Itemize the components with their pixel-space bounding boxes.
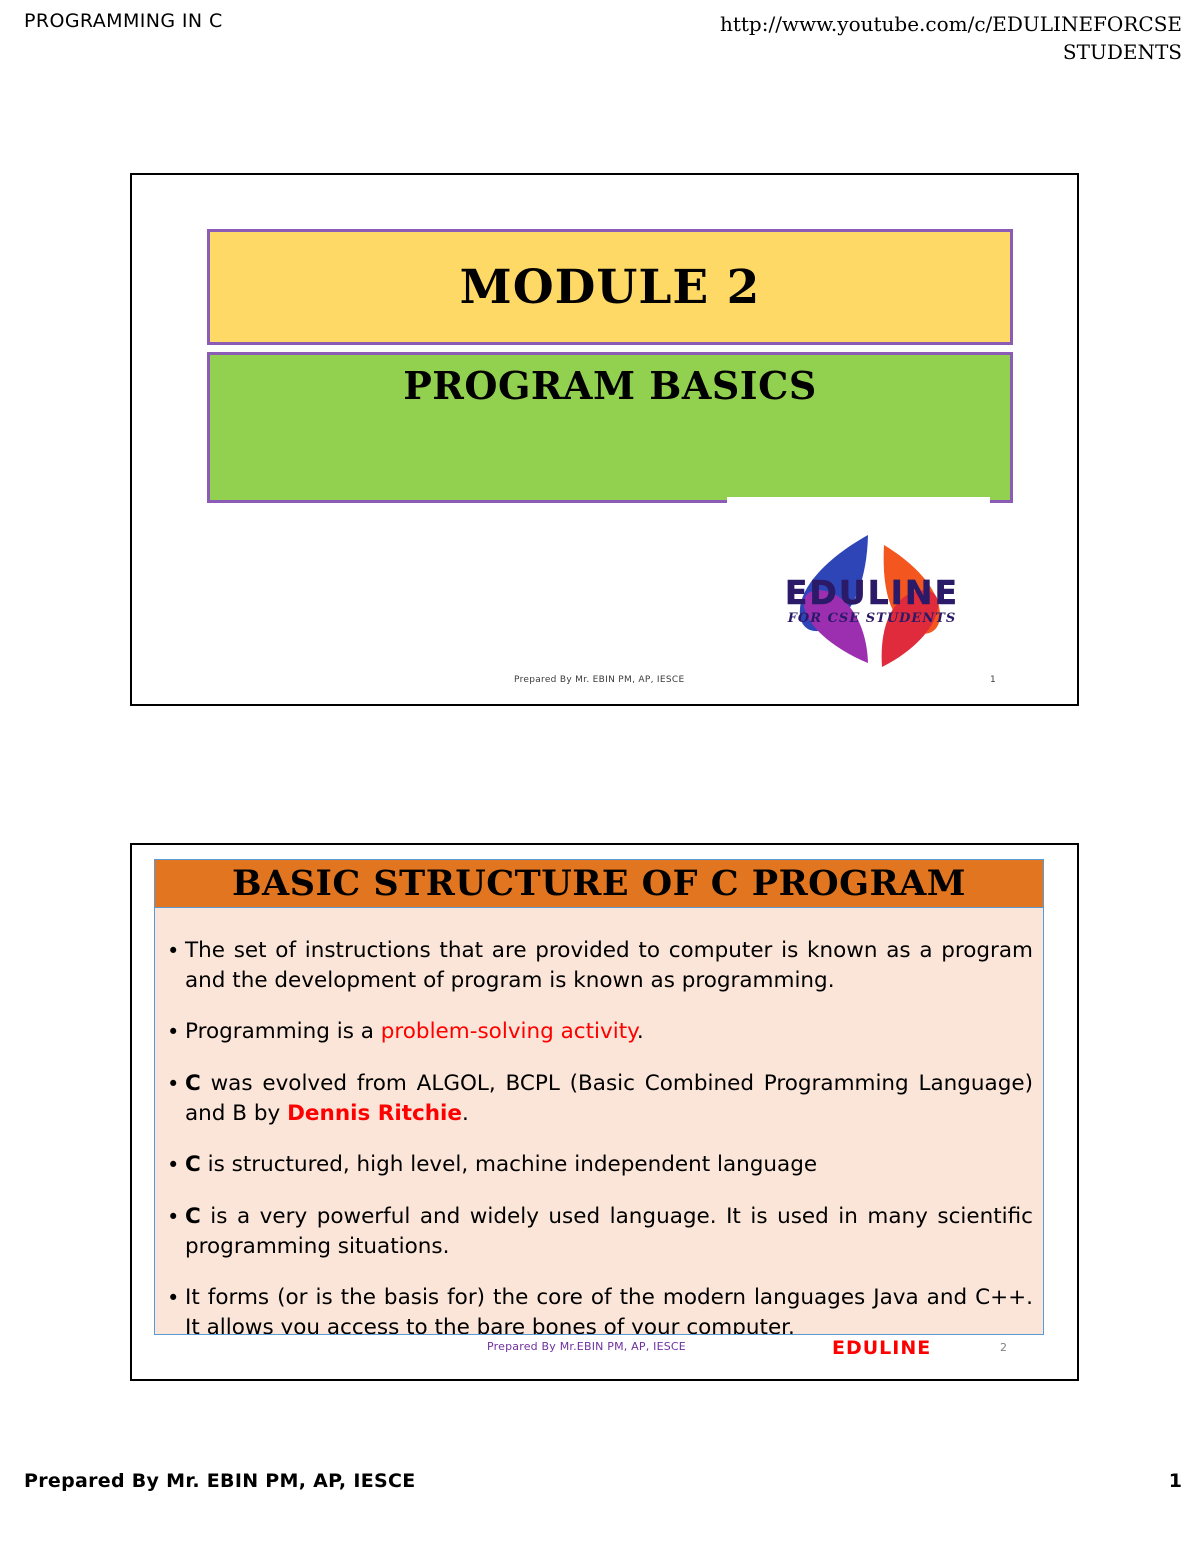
bullet-highlight: problem-solving activity (381, 1019, 637, 1044)
eduline-logo: EDULINE FOR CSE STUDENTS (772, 527, 972, 677)
header-channel-url: http://www.youtube.com/c/EDULINEFORCSE S… (622, 10, 1182, 66)
bullet-emphasis: C (185, 1152, 201, 1177)
slide-2-title-bar: BASIC STRUCTURE OF C PROGRAM (154, 859, 1044, 908)
slide-2-title-text: BASIC STRUCTURE OF C PROGRAM (232, 866, 966, 901)
eduline-logo-wordmark: EDULINE (772, 573, 972, 612)
bullet-text: Programming is a (185, 1019, 381, 1044)
slide-1-prepared-by: Prepared By Mr. EBIN PM, AP, IESCE (514, 675, 684, 685)
bullet-item: C is a very powerful and widely used lan… (163, 1202, 1033, 1262)
slide-2-prepared-by: Prepared By Mr.EBIN PM, AP, IESCE (487, 1340, 686, 1353)
page-footer: Prepared By Mr. EBIN PM, AP, IESCE 1 (24, 1470, 1182, 1500)
bullet-item: The set of instructions that are provide… (163, 936, 1033, 996)
bullet-item: C is structured, high level, machine ind… (163, 1150, 1033, 1180)
header-course-title: PROGRAMMING IN C (24, 10, 223, 32)
bullet-item: C was evolved from ALGOL, BCPL (Basic Co… (163, 1069, 1033, 1129)
slide-1-page-number: 1 (990, 675, 996, 685)
bullet-item: Programming is a problem-solving activit… (163, 1017, 1033, 1047)
bullet-text: is structured, high level, machine indep… (201, 1152, 817, 1177)
overlay-notch (727, 497, 990, 507)
slide-2-brand-text: EDULINE (832, 1337, 931, 1359)
page-header: PROGRAMMING IN C http://www.youtube.com/… (24, 10, 1182, 66)
bullet-emphasis: C (185, 1204, 201, 1229)
module-title-text: MODULE 2 (460, 264, 761, 311)
slide-2-footer: Prepared By Mr.EBIN PM, AP, IESCE EDULIN… (132, 1340, 1077, 1364)
slide-2: BASIC STRUCTURE OF C PROGRAM The set of … (130, 843, 1079, 1381)
page-footer-page-number: 1 (1169, 1470, 1182, 1492)
page-footer-prepared-by: Prepared By Mr. EBIN PM, AP, IESCE (24, 1470, 416, 1492)
bullet-text: It forms (or is the basis for) the core … (185, 1285, 1033, 1335)
slide-2-page-number: 2 (1000, 1341, 1007, 1354)
bullet-emphasis: C (185, 1071, 201, 1096)
slide-1-footer: Prepared By Mr. EBIN PM, AP, IESCE 1 (132, 675, 1077, 695)
subject-title-box: PROGRAM BASICS (207, 352, 1013, 503)
bullet-text: The set of instructions that are provide… (185, 938, 1033, 993)
bullet-highlight-strong: Dennis Ritchie (287, 1101, 462, 1126)
subject-title-text: PROGRAM BASICS (403, 367, 817, 405)
slide-2-bullet-list: The set of instructions that are provide… (154, 908, 1044, 1335)
bullet-item: It forms (or is the basis for) the core … (163, 1283, 1033, 1335)
bullet-text: . (462, 1101, 469, 1126)
eduline-logo-tagline: FOR CSE STUDENTS (772, 611, 972, 626)
bullet-text: is a very powerful and widely used langu… (185, 1204, 1033, 1259)
module-title-box: MODULE 2 (207, 229, 1013, 345)
slide-1: MODULE 2 PROGRAM BASICS EDULINE FOR CSE … (130, 173, 1079, 706)
bullet-text: . (637, 1019, 644, 1044)
